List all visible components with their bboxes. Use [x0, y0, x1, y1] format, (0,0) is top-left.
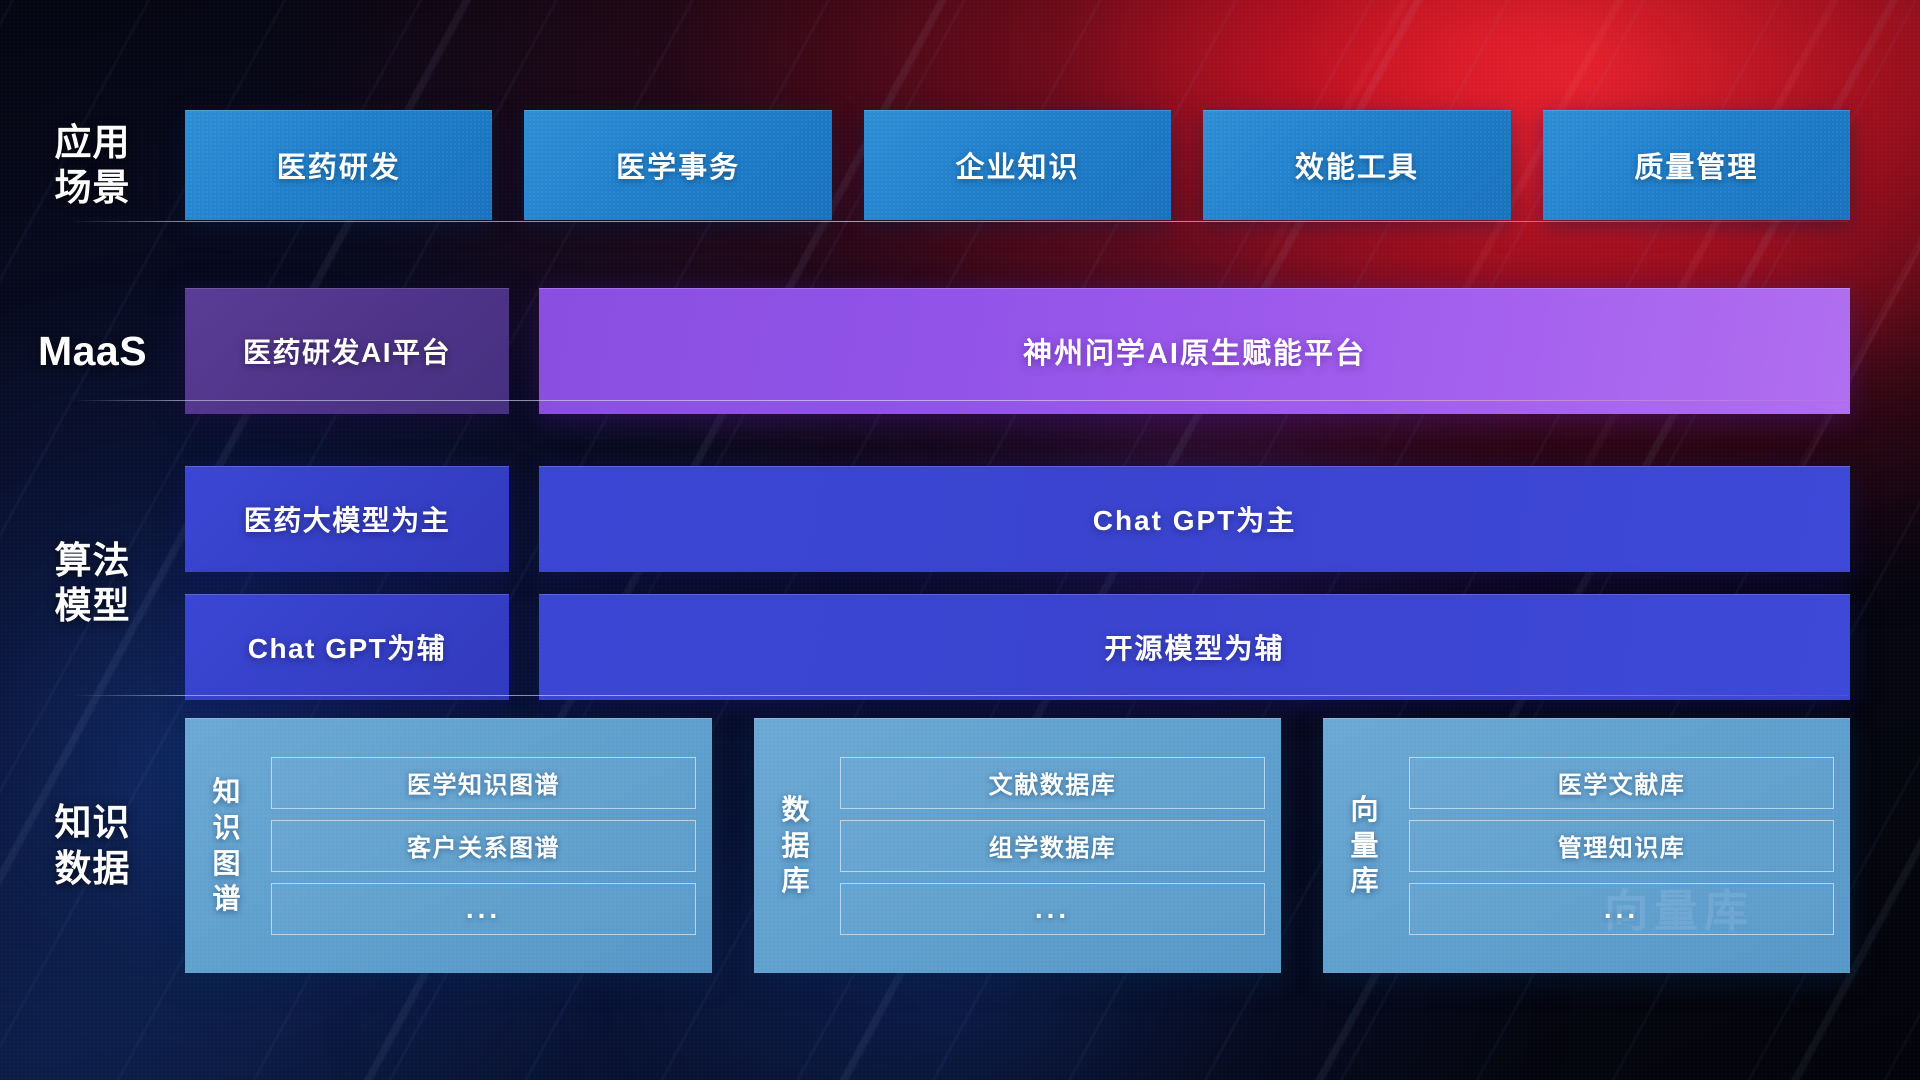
application-card-medicine-rd[interactable]: 医药研发 [185, 110, 492, 220]
algorithm-card-chatgpt-primary[interactable]: Chat GPT为主 [539, 466, 1850, 572]
knowledge-item-literature-database[interactable]: 文献数据库 [840, 757, 1265, 809]
application-card-efficiency-tools[interactable]: 效能工具 [1203, 110, 1510, 220]
knowledge-item-more-database[interactable]: ... [840, 883, 1265, 935]
algorithm-row-primary: 医药大模型为主 Chat GPT为主 [185, 466, 1850, 572]
knowledge-group-title-vector-store: 向量库 [1333, 732, 1397, 959]
maas-card-list: 医药研发AI平台 神州问学AI原生赋能平台 [185, 288, 1920, 414]
knowledge-item-list-vector-store: 医学文献库 管理知识库 ... [1409, 732, 1834, 959]
layer-application-scenarios: 应用 场景 医药研发 医学事务 企业知识 效能工具 质量管理 [0, 110, 1920, 220]
knowledge-item-management-knowledge-store[interactable]: 管理知识库 [1409, 820, 1834, 872]
knowledge-item-medical-knowledge-graph[interactable]: 医学知识图谱 [271, 757, 696, 809]
layer-knowledge-data: 知识 数据 知识图谱 医学知识图谱 客户关系图谱 ... 数据库 文献数据库 组… [0, 718, 1920, 973]
knowledge-item-omics-database[interactable]: 组学数据库 [840, 820, 1265, 872]
maas-card-medicine-rd-ai-platform[interactable]: 医药研发AI平台 [185, 288, 509, 414]
knowledge-group-knowledge-graph[interactable]: 知识图谱 医学知识图谱 客户关系图谱 ... [185, 718, 712, 973]
application-card-medical-affairs[interactable]: 医学事务 [524, 110, 831, 220]
knowledge-item-list-database: 文献数据库 组学数据库 ... [840, 732, 1265, 959]
knowledge-item-medical-literature-store[interactable]: 医学文献库 [1409, 757, 1834, 809]
layer-label-algorithm-models: 算法 模型 [0, 538, 185, 628]
application-card-enterprise-knowledge[interactable]: 企业知识 [864, 110, 1171, 220]
architecture-diagram: 应用 场景 医药研发 医学事务 企业知识 效能工具 质量管理 MaaS 医药研发… [0, 0, 1920, 1080]
algorithm-card-chatgpt-secondary[interactable]: Chat GPT为辅 [185, 594, 509, 700]
knowledge-group-title-database: 数据库 [764, 732, 828, 959]
knowledge-group-title-knowledge-graph: 知识图谱 [195, 732, 259, 959]
layer-label-knowledge-data: 知识 数据 [0, 800, 185, 890]
knowledge-group-vector-store[interactable]: 向量库 向量库 医学文献库 管理知识库 ... [1323, 718, 1850, 973]
application-card-list: 医药研发 医学事务 企业知识 效能工具 质量管理 [185, 110, 1920, 220]
maas-card-shenzhou-wenxue-platform[interactable]: 神州问学AI原生赋能平台 [539, 288, 1850, 414]
divider-algo-knowledge [72, 695, 1848, 696]
layer-label-application-scenarios: 应用 场景 [0, 120, 185, 210]
divider-maas-algo [72, 400, 1848, 401]
divider-apps-maas [72, 221, 1848, 222]
knowledge-item-more-knowledge-graph[interactable]: ... [271, 883, 696, 935]
algorithm-card-list: 医药大模型为主 Chat GPT为主 Chat GPT为辅 开源模型为辅 [185, 466, 1920, 700]
layer-maas: MaaS 医药研发AI平台 神州问学AI原生赋能平台 [0, 288, 1920, 414]
algorithm-row-secondary: Chat GPT为辅 开源模型为辅 [185, 594, 1850, 700]
knowledge-item-more-vector-store[interactable]: ... [1409, 883, 1834, 935]
layer-label-maas: MaaS [0, 326, 185, 376]
knowledge-group-database[interactable]: 数据库 文献数据库 组学数据库 ... [754, 718, 1281, 973]
algorithm-card-opensource-secondary[interactable]: 开源模型为辅 [539, 594, 1850, 700]
layer-algorithm-models: 算法 模型 医药大模型为主 Chat GPT为主 Chat GPT为辅 开源模型… [0, 466, 1920, 700]
knowledge-item-list-knowledge-graph: 医学知识图谱 客户关系图谱 ... [271, 732, 696, 959]
knowledge-group-list: 知识图谱 医学知识图谱 客户关系图谱 ... 数据库 文献数据库 组学数据库 .… [185, 718, 1920, 973]
application-card-quality-management[interactable]: 质量管理 [1543, 110, 1850, 220]
knowledge-item-customer-relation-graph[interactable]: 客户关系图谱 [271, 820, 696, 872]
algorithm-card-medical-llm-primary[interactable]: 医药大模型为主 [185, 466, 509, 572]
